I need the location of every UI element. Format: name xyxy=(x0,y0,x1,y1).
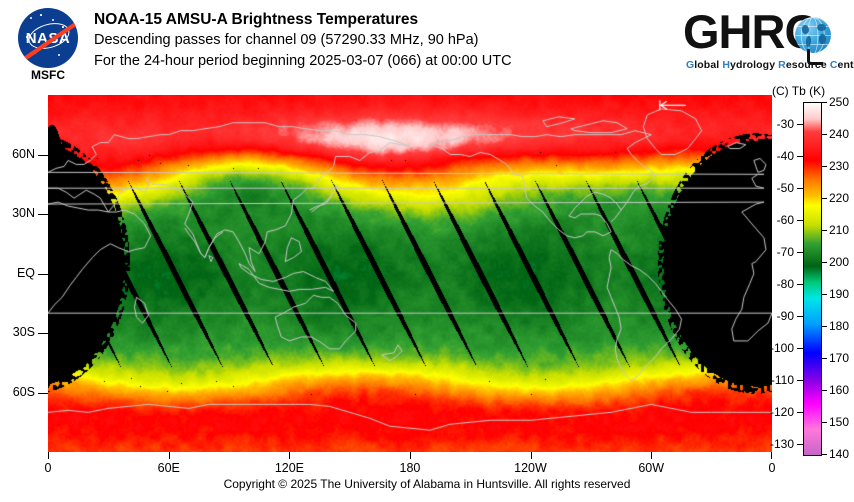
colorbar-tick-celsius xyxy=(797,380,803,381)
colorbar-tick-kelvin xyxy=(821,358,827,359)
longitude-tick xyxy=(289,452,290,459)
colorbar-tick-celsius xyxy=(797,220,803,221)
colorbar-tick-kelvin xyxy=(821,390,827,391)
longitude-label: 120W xyxy=(514,461,547,475)
colorbar-label-celsius: -50 xyxy=(770,181,794,195)
latitude-label: 60S xyxy=(13,385,35,399)
colorbar-tick-kelvin xyxy=(821,422,827,423)
ghrc-tagline: Global Hydrology Resource Center xyxy=(686,59,854,71)
colorbar-tick-celsius xyxy=(797,188,803,189)
colorbar-gradient xyxy=(803,102,822,456)
colorbar-tick-celsius xyxy=(797,348,803,349)
colorbar-label-celsius: -90 xyxy=(770,309,794,323)
colorbar-label-celsius: -70 xyxy=(770,245,794,259)
longitude-label: 60W xyxy=(638,461,664,475)
colorbar-label-kelvin: 160 xyxy=(829,383,849,397)
colorbar-tick-kelvin xyxy=(821,454,827,455)
nasa-swoosh-icon xyxy=(19,14,78,66)
latitude-label: 30S xyxy=(13,325,35,339)
colorbar-label-kelvin: 250 xyxy=(829,95,849,109)
latitude-tick xyxy=(38,214,48,215)
nasa-logo: NASA MSFC xyxy=(10,6,86,84)
latitude-tick xyxy=(38,155,48,156)
colorbar-tick-kelvin xyxy=(821,166,827,167)
ghrc-logo: GHRC Global Hydrology Resource Center xyxy=(683,8,843,78)
longitude-tick xyxy=(169,452,170,459)
colorbar-tick-kelvin xyxy=(821,294,827,295)
brightness-temperature-map[interactable] xyxy=(48,95,772,452)
colorbar-label-kelvin: 180 xyxy=(829,319,849,333)
nasa-meatball-circle: NASA xyxy=(18,8,78,68)
longitude-tick xyxy=(531,452,532,459)
colorbar-label-kelvin: 150 xyxy=(829,415,849,429)
latitude-axis: 60N30NEQ30S60S xyxy=(0,95,48,452)
colorbar-tick-celsius xyxy=(797,444,803,445)
colorbar-label-kelvin: 220 xyxy=(829,191,849,205)
colorbar-tick-kelvin xyxy=(821,262,827,263)
latitude-tick xyxy=(38,274,48,275)
copyright-notice: Copyright © 2025 The University of Alaba… xyxy=(0,477,854,491)
latitude-label: 60N xyxy=(12,147,35,161)
colorbar-tick-celsius xyxy=(797,124,803,125)
colorbar-label-kelvin: 240 xyxy=(829,127,849,141)
colorbar-legend: (C) Tb (K) 25024023022021020019018017016… xyxy=(772,84,854,464)
colorbar-tick-celsius xyxy=(797,252,803,253)
subtitle-channel: Descending passes for channel 09 (57290.… xyxy=(94,30,664,51)
colorbar-label-kelvin: 200 xyxy=(829,255,849,269)
page-title: NOAA-15 AMSU-A Brightness Temperatures xyxy=(94,9,664,30)
longitude-label: 180 xyxy=(400,461,421,475)
longitude-tick xyxy=(48,452,49,459)
globe-icon xyxy=(795,17,831,53)
subtitle-period: For the 24-hour period beginning 2025-03… xyxy=(94,51,664,72)
longitude-axis: 060E120E180120W60W0 xyxy=(48,452,772,480)
colorbar-label-celsius: -110 xyxy=(770,373,794,387)
longitude-tick xyxy=(410,452,411,459)
title-block: NOAA-15 AMSU-A Brightness Temperatures D… xyxy=(94,9,664,72)
colorbar-tick-celsius xyxy=(797,316,803,317)
colorbar-label-kelvin: 140 xyxy=(829,447,849,461)
colorbar-label-kelvin: 170 xyxy=(829,351,849,365)
longitude-label: 60E xyxy=(158,461,180,475)
msfc-label: MSFC xyxy=(10,68,86,82)
colorbar-tick-kelvin xyxy=(821,134,827,135)
colorbar-label-celsius: -100 xyxy=(770,341,794,355)
colorbar-label-celsius: -120 xyxy=(770,405,794,419)
longitude-label: 120E xyxy=(275,461,304,475)
latitude-tick xyxy=(38,333,48,334)
colorbar-tick-celsius xyxy=(797,284,803,285)
colorbar-label-celsius: -60 xyxy=(770,213,794,227)
colorbar-label-celsius: -40 xyxy=(770,149,794,163)
map-raster xyxy=(48,95,772,452)
colorbar-label-celsius: -130 xyxy=(770,437,794,451)
colorbar-label-kelvin: 230 xyxy=(829,159,849,173)
colorbar-tick-kelvin xyxy=(821,326,827,327)
colorbar-label-celsius: -80 xyxy=(770,277,794,291)
colorbar-label-kelvin: 210 xyxy=(829,223,849,237)
longitude-tick xyxy=(651,452,652,459)
colorbar-tick-celsius xyxy=(797,412,803,413)
longitude-label: 0 xyxy=(45,461,52,475)
colorbar-tick-kelvin xyxy=(821,198,827,199)
colorbar-tick-kelvin xyxy=(821,102,827,103)
colorbar-label-celsius: -30 xyxy=(770,117,794,131)
latitude-label: 30N xyxy=(12,206,35,220)
colorbar-label-kelvin: 190 xyxy=(829,287,849,301)
latitude-tick xyxy=(38,393,48,394)
colorbar-tick-kelvin xyxy=(821,230,827,231)
colorbar-tick-celsius xyxy=(797,156,803,157)
latitude-label: EQ xyxy=(17,266,35,280)
